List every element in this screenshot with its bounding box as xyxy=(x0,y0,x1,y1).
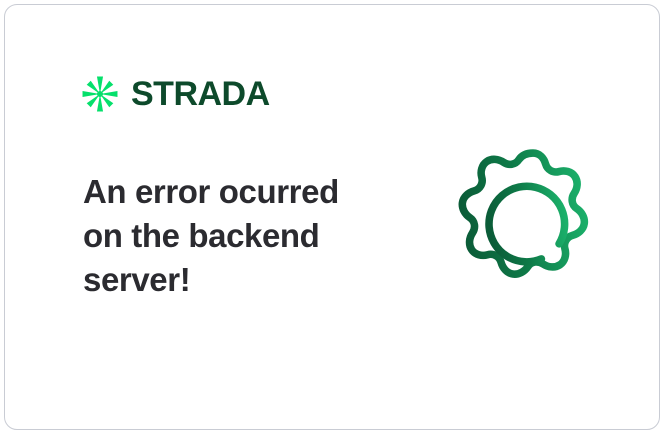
error-headline-line-3: server! xyxy=(83,261,190,298)
error-headline-line-2: on the backend xyxy=(83,217,319,254)
error-card: STRADA An error ocurred on the backend s… xyxy=(4,4,660,430)
error-headline-line-1: An error ocurred xyxy=(83,173,339,210)
gear-inner-ring xyxy=(489,186,565,262)
error-headline: An error ocurred on the backend server! xyxy=(83,170,383,302)
strada-asterisk-icon xyxy=(81,75,119,113)
brand-lockup: STRADA xyxy=(81,75,270,113)
brand-wordmark: STRADA xyxy=(131,77,270,111)
gear-cog-icon xyxy=(449,143,617,311)
